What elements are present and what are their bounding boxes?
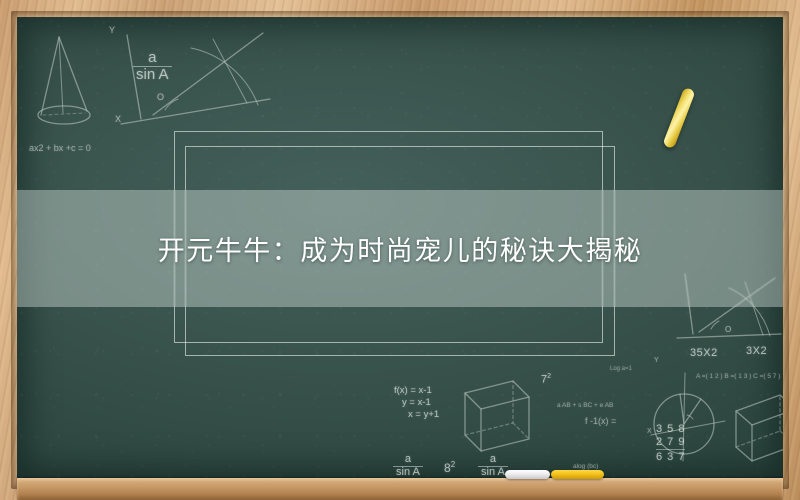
quadratic-formula: ax2 + bx +c = 0 — [29, 143, 91, 153]
multiplication-3x2: 3X2 — [746, 345, 767, 357]
page-title: 开元牛牛：成为时尚宠儿的秘诀大揭秘 — [158, 229, 643, 268]
eight-exponent: 2 — [451, 460, 455, 469]
function-equations: f(x) = x-1 y = x-1 x = y+1 — [394, 385, 439, 421]
angle-label-top-left: O — [157, 92, 164, 102]
chalk-stick-white — [505, 470, 550, 479]
chalk-stick-yellow-tray — [551, 470, 604, 479]
inverse-function: f -1(x) = — [585, 416, 616, 426]
addend-2: 2 7 9 — [656, 436, 685, 449]
axis-label-y-top-left: Y — [109, 25, 115, 35]
axis-label-y-right: Y — [654, 357, 659, 364]
function-line-3: x = y+1 — [394, 409, 439, 421]
cube-diagram-center — [447, 375, 533, 453]
banner-image: a sin A ax2 + bx +c = 0 Y X O f(x) = x-1 — [0, 0, 800, 500]
chalk-tray — [17, 478, 783, 500]
law-of-sines-bc-den: sin A — [478, 467, 508, 478]
title-band: 开元牛牛：成为时尚宠儿的秘诀大揭秘 — [17, 190, 783, 307]
axis-label-x-right: X — [647, 428, 652, 435]
law-of-sines-bottom-left: a sin A — [393, 454, 423, 478]
eight-squared: 82 — [444, 460, 455, 475]
seven-squared: 72 — [541, 373, 551, 386]
vertical-addition: 3 5 8 2 7 9 6 3 7 — [656, 423, 685, 464]
sum-result: 6 3 7 — [656, 449, 685, 464]
law-of-sines-bl-num: a — [393, 454, 423, 467]
log-small: Log a=1 — [610, 366, 632, 372]
law-of-sines-bc-num: a — [478, 454, 508, 467]
seven-exponent: 2 — [547, 373, 551, 380]
angle-label-right: O — [725, 325, 731, 334]
multiplication-35x2: 35X2 — [690, 347, 718, 359]
axis-label-x-top-left: X — [115, 114, 121, 124]
angle-axes-diagram-top-left — [95, 27, 285, 142]
function-line-2: y = x-1 — [394, 397, 439, 409]
chalkboard-surface: a sin A ax2 + bx +c = 0 Y X O f(x) = x-1 — [17, 17, 783, 478]
vector-expression: a AB + s BC + e AB — [557, 402, 613, 409]
function-line-1: f(x) = x-1 — [394, 385, 439, 397]
log-product: alog (bc) — [573, 463, 598, 470]
eight-base: 8 — [444, 461, 451, 475]
addend-1: 3 5 8 — [656, 423, 685, 436]
cube-diagram-right — [722, 389, 783, 463]
law-of-sines-bottom-center: a sin A — [478, 454, 508, 478]
law-of-sines-bl-den: sin A — [393, 467, 423, 478]
